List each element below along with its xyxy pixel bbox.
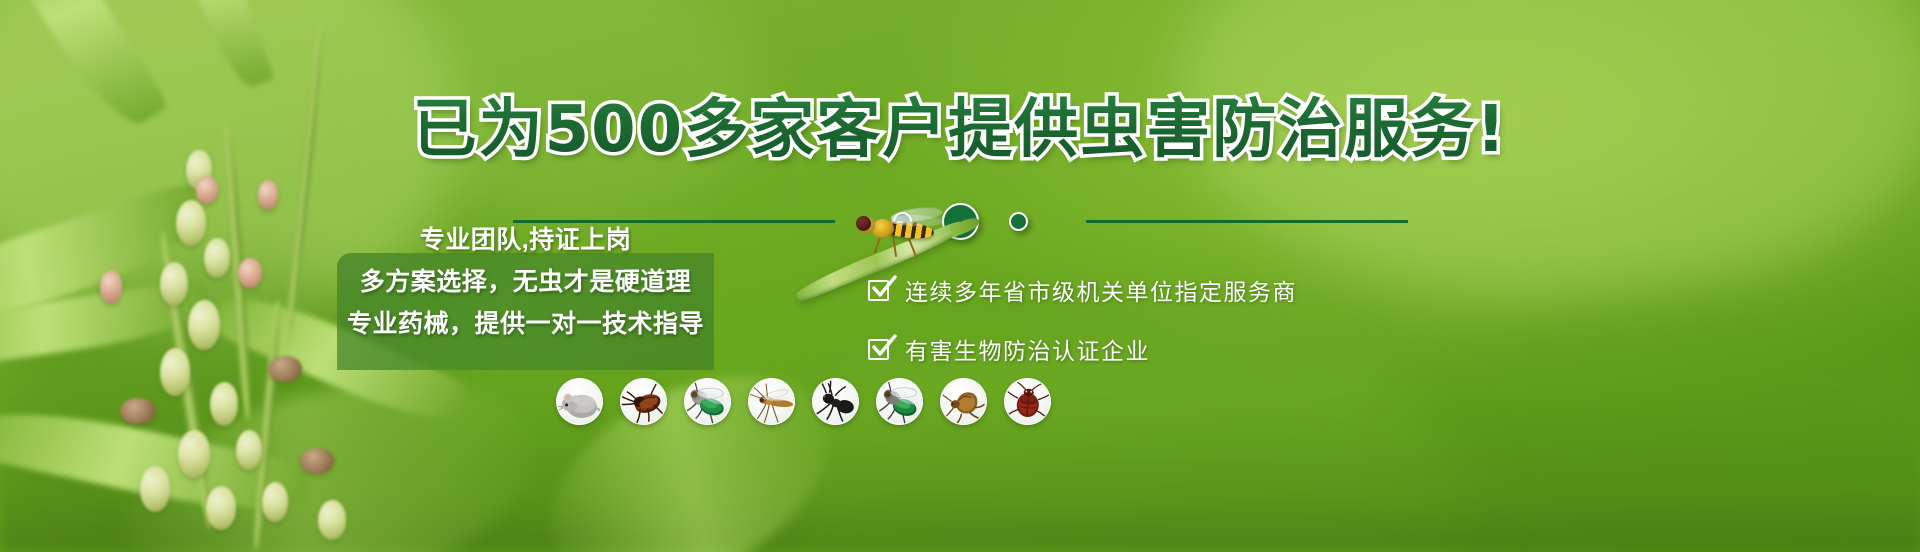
feature-row: 有害生物防治认证企业 [868, 332, 1297, 366]
selling-point-line: 专业团队,持证上岗 [420, 220, 631, 256]
flea-icon[interactable] [940, 378, 987, 425]
banner-headline: 已为500多家客户提供虫害防治服务! 已为500多家客户提供虫害防治服务! [0, 78, 1920, 170]
feature-label: 连续多年省市级机关单位指定服务商 [905, 273, 1297, 307]
hoverfly-thorax [872, 219, 894, 238]
hoverfly-eye [856, 216, 871, 231]
feature-label: 有害生物防治认证企业 [905, 332, 1150, 366]
feature-row: 连续多年省市级机关单位指定服务商 [868, 273, 1297, 307]
checkbox-checked-icon [868, 278, 892, 302]
blowfly-icon[interactable] [684, 378, 731, 425]
divider-rule-right [1086, 220, 1408, 223]
cranefly-icon[interactable] [748, 378, 795, 425]
housefly-icon[interactable] [876, 378, 923, 425]
pest-type-list [556, 378, 1051, 425]
selling-point-line: 专业药械，提供一对一技术指导 [347, 304, 704, 340]
checkbox-checked-icon [868, 337, 892, 361]
selling-points-panel: 专业团队,持证上岗 多方案选择，无虫才是硬道理 专业药械，提供一对一技术指导 [337, 253, 714, 370]
cockroach-icon[interactable] [620, 378, 667, 425]
dot-small-right-icon [1009, 212, 1028, 231]
feature-list: 连续多年省市级机关单位指定服务商 有害生物防治认证企业 [868, 273, 1297, 366]
ant-icon[interactable] [812, 378, 859, 425]
mouse-icon[interactable] [556, 378, 603, 425]
selling-points-list: 专业团队,持证上岗 多方案选择，无虫才是硬道理 专业药械，提供一对一技术指导 [337, 220, 714, 340]
background-bokeh-blob [1420, 300, 1920, 552]
headline-text: 已为500多家客户提供虫害防治服务! [413, 78, 1508, 170]
selling-point-line: 多方案选择，无虫才是硬道理 [360, 262, 692, 298]
bedbug-icon[interactable] [1004, 378, 1051, 425]
hoverfly-icon [850, 204, 955, 252]
promo-banner: 已为500多家客户提供虫害防治服务! 已为500多家客户提供虫害防治服务! 专业… [0, 0, 1920, 552]
